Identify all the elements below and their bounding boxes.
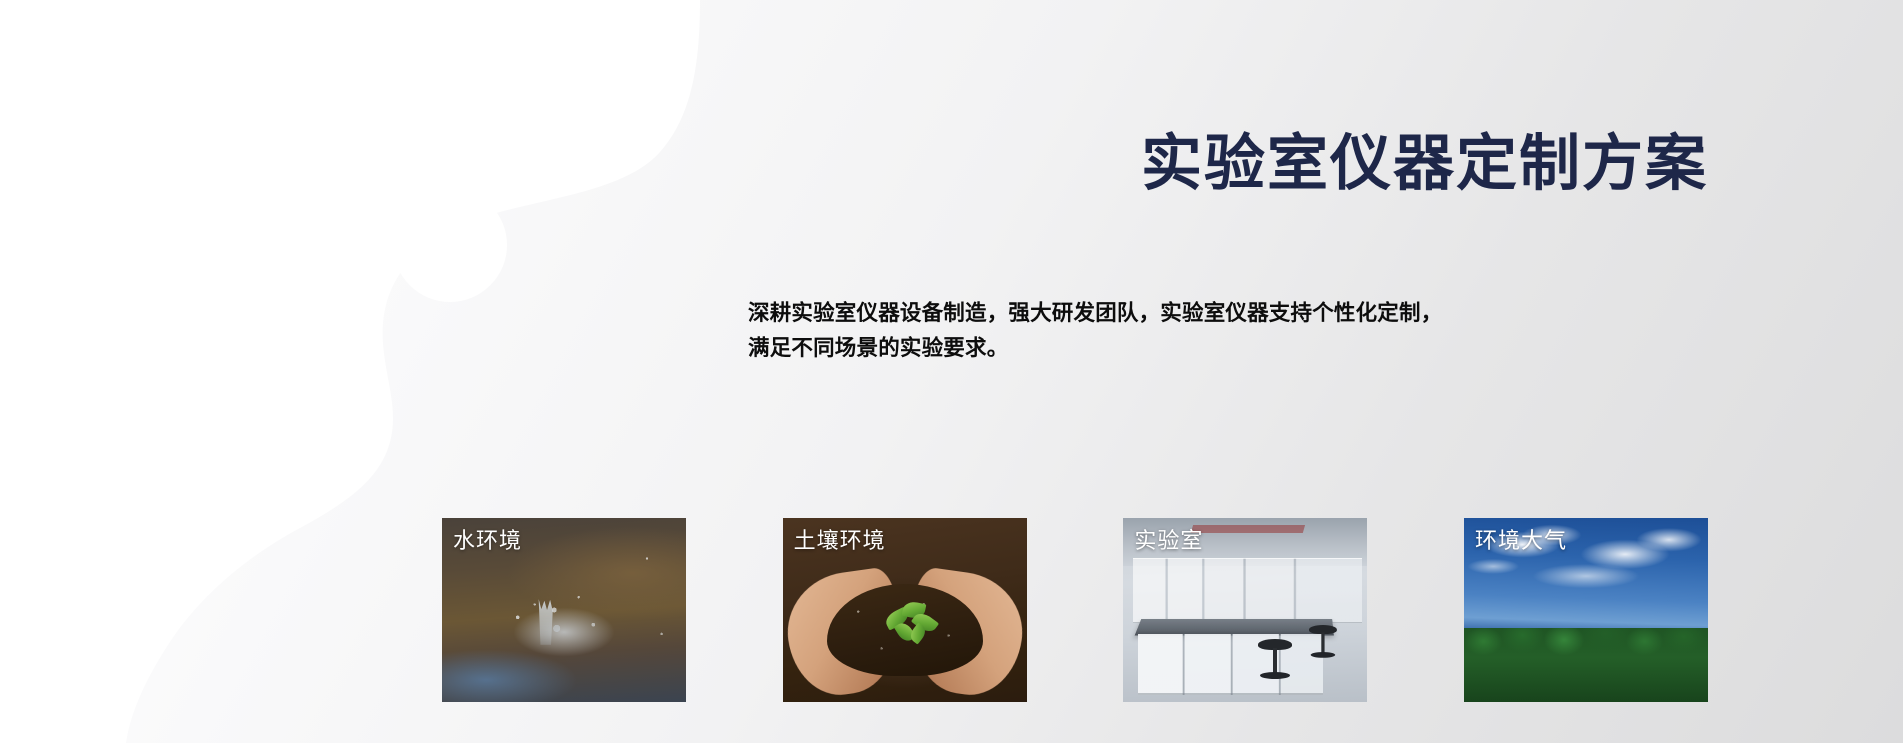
lab-fume-hoods (1133, 558, 1362, 623)
category-card-soil[interactable]: 土壤环境 (783, 518, 1027, 702)
seedling-icon (883, 599, 943, 651)
category-card-list: 水环境 土壤环境 (442, 518, 1708, 702)
category-card-laboratory[interactable]: 实验室 (1123, 518, 1367, 702)
page-title: 实验室仪器定制方案 (748, 128, 1708, 198)
lab-cabinets (1138, 634, 1323, 695)
headline-block: 实验室仪器定制方案 (748, 128, 1708, 198)
decorative-circle-small (239, 446, 305, 512)
category-card-water[interactable]: 水环境 (442, 518, 686, 702)
subtitle-line-1: 深耕实验室仪器设备制造，强大研发团队，实验室仪器支持个性化定制， (748, 301, 1442, 325)
category-card-label: 实验室 (1134, 527, 1203, 555)
forest-layer (1464, 628, 1708, 702)
category-card-label: 环境大气 (1475, 527, 1567, 555)
hero-banner: 实验室仪器定制方案 深耕实验室仪器设备制造，强大研发团队，实验室仪器支持个性化定… (0, 0, 1903, 743)
subtitle-block: 深耕实验室仪器设备制造，强大研发团队，实验室仪器支持个性化定制， 满足不同场景的… (748, 296, 1710, 366)
category-card-atmosphere[interactable]: 环境大气 (1464, 518, 1708, 702)
subtitle-text: 深耕实验室仪器设备制造，强大研发团队，实验室仪器支持个性化定制， 满足不同场景的… (748, 296, 1710, 366)
category-card-label: 土壤环境 (794, 527, 886, 555)
decorative-circle-large (393, 188, 507, 302)
subtitle-line-2: 满足不同场景的实验要求。 (748, 336, 1008, 360)
category-card-label: 水环境 (453, 527, 522, 555)
